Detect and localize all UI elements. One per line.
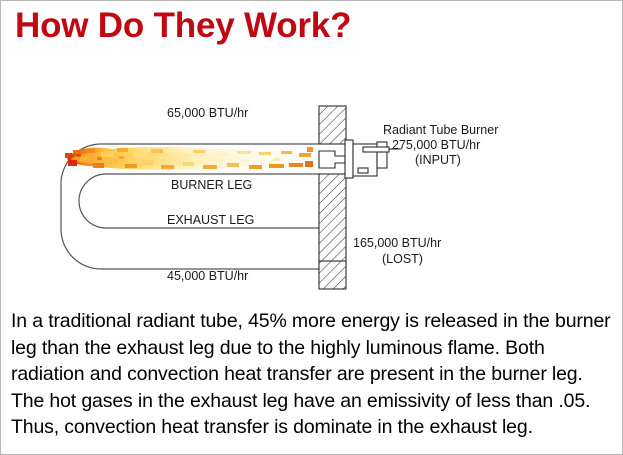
wall-block-upper (319, 106, 346, 144)
label-burner-title: Radiant Tube Burner (383, 123, 498, 138)
radiant-tube-burner-diagram: 65,000 BTU/hr BURNER LEG EXHAUST LEG 45,… (1, 96, 623, 311)
label-burner-input-heat: 65,000 BTU/hr (167, 106, 248, 121)
wall-block-lower (319, 261, 346, 289)
burner-flange (345, 140, 353, 178)
label-exhaust-output-heat: 45,000 BTU/hr (167, 269, 248, 284)
page-title: How Do They Work? (15, 4, 351, 48)
air-inlet-foot (358, 168, 368, 173)
diagram-svg (1, 96, 623, 311)
body-paragraph: In a traditional radiant tube, 45% more … (11, 308, 617, 441)
label-burner-leg: BURNER LEG (171, 178, 252, 193)
gas-inlet-stub (363, 147, 389, 152)
label-burner-input-rate: 275,000 BTU/hr (392, 138, 480, 153)
label-lost-note: (LOST) (382, 252, 423, 267)
label-lost-rate: 165,000 BTU/hr (353, 236, 441, 251)
flame-graphic (65, 147, 313, 170)
burner-nozzle (319, 151, 345, 168)
label-burner-input-note: (INPUT) (415, 153, 461, 168)
label-exhaust-leg: EXHAUST LEG (167, 213, 254, 228)
burner-assembly (319, 140, 389, 178)
wall-block-middle (319, 174, 346, 269)
slide-canvas: How Do They Work? (0, 0, 623, 455)
burner-rear-housing (377, 142, 387, 168)
